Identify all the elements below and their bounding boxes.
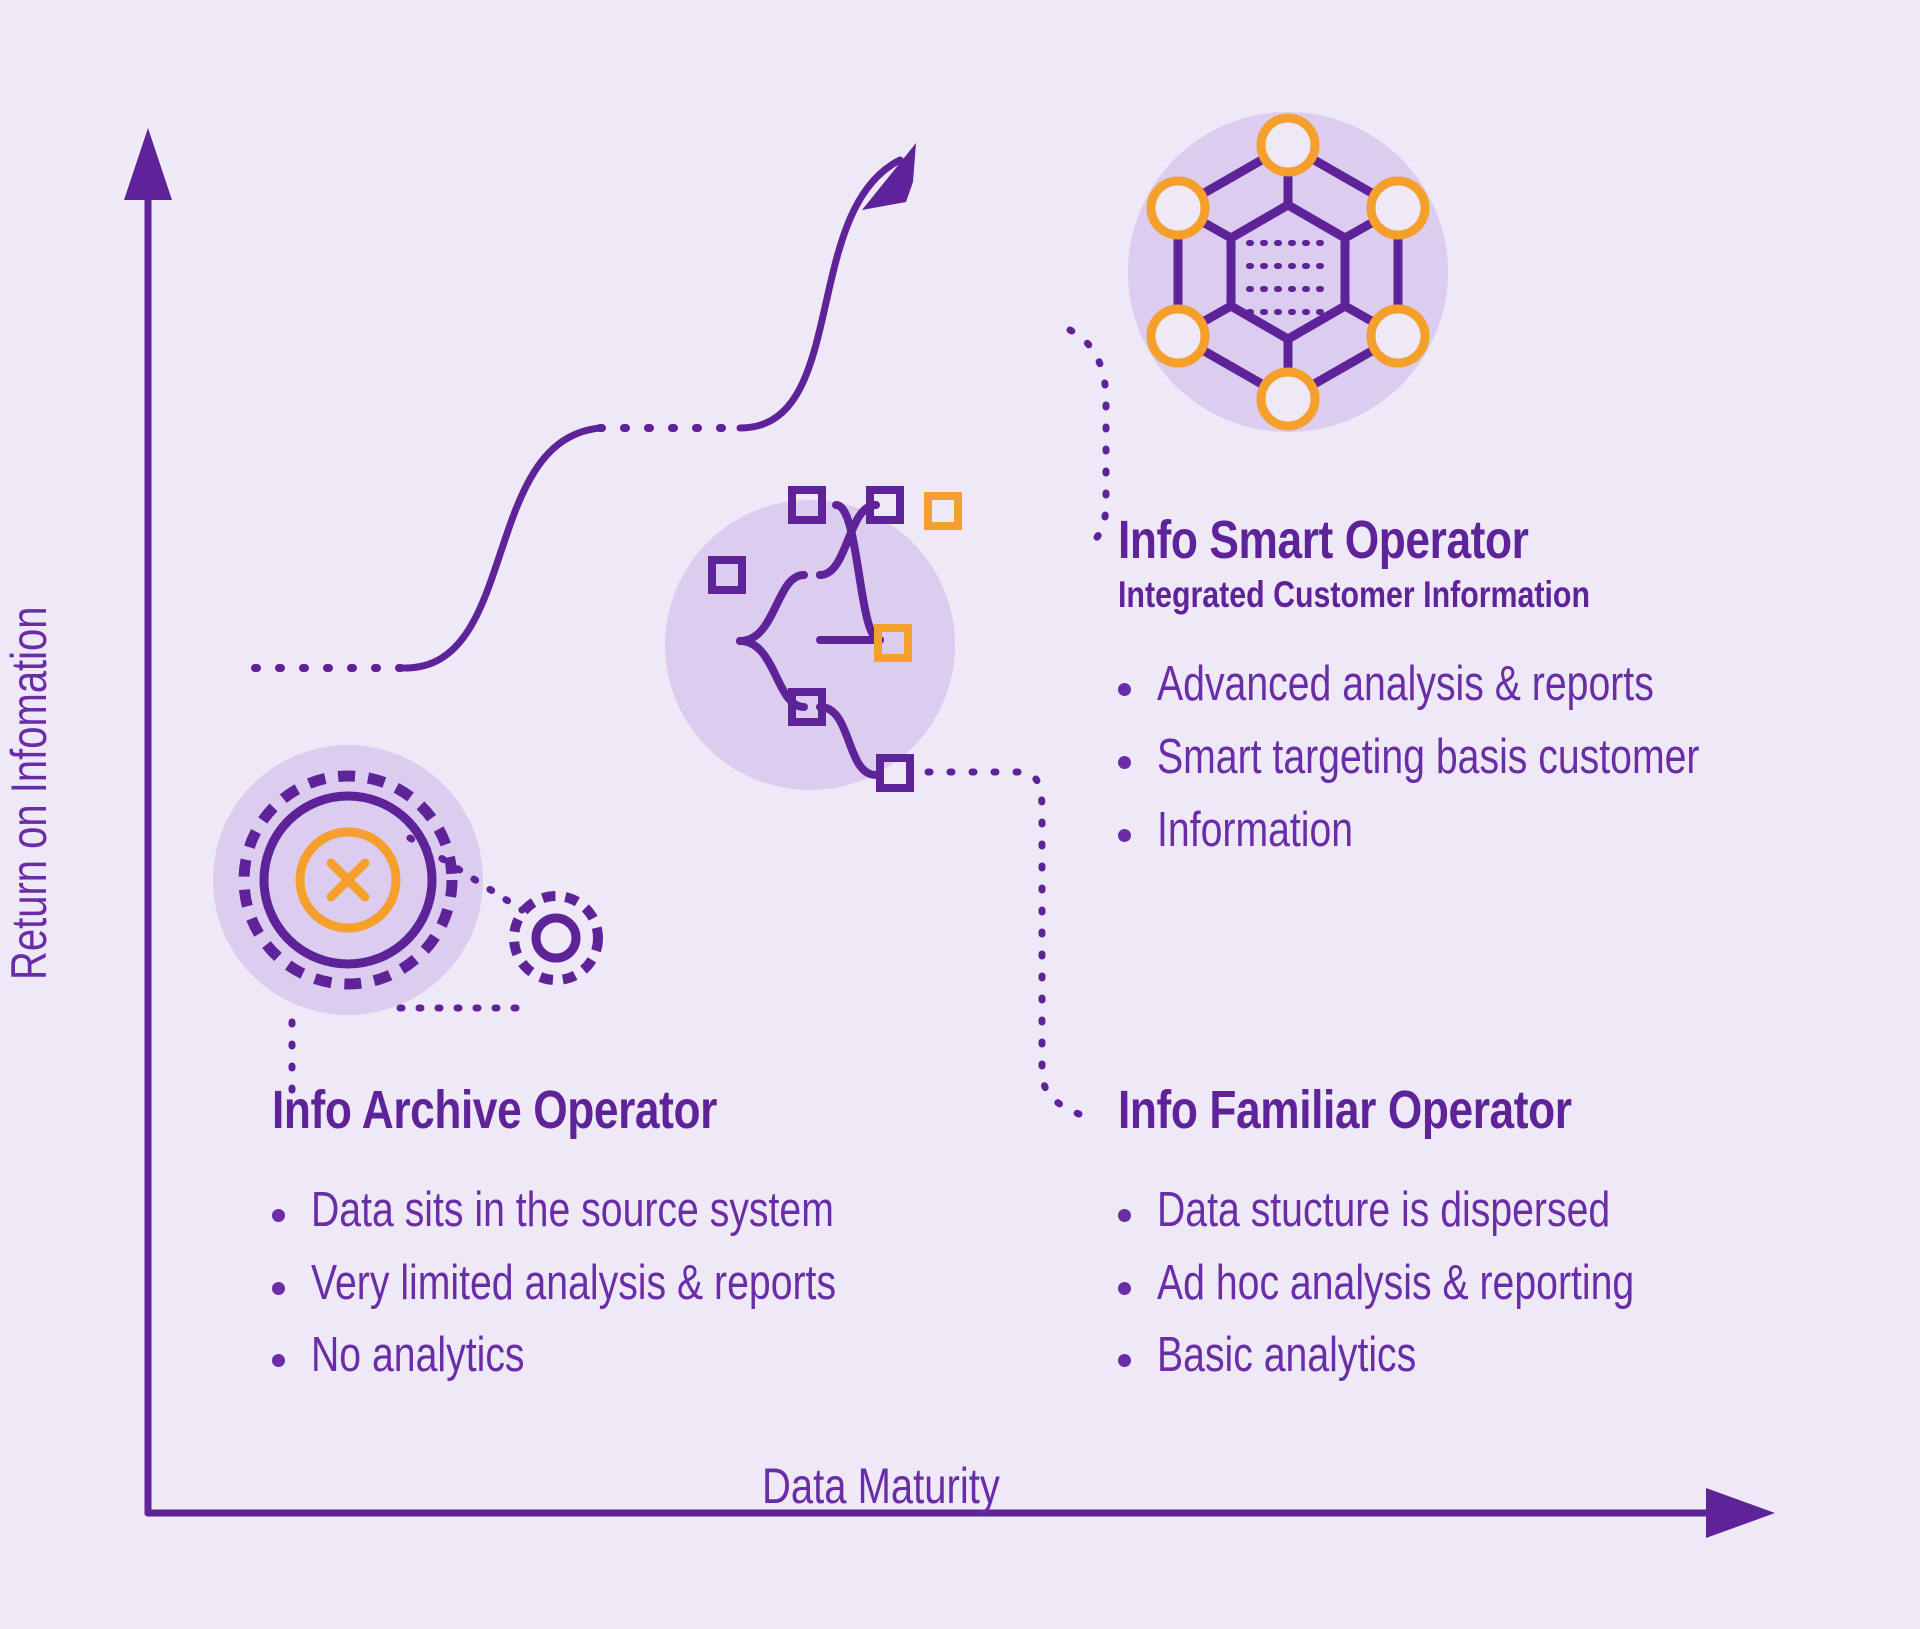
node-circle-top	[1261, 118, 1315, 172]
bullet-text: Advanced analysis & reports	[1157, 657, 1654, 712]
bullet-text: Data sits in the source system	[311, 1183, 834, 1238]
stage-smart-subtitle: Integrated Customer Information	[1118, 575, 1741, 616]
bullet-text: No analytics	[311, 1328, 525, 1383]
bullet-dot-icon	[1118, 683, 1131, 696]
node-circle-upper-left	[1151, 181, 1205, 235]
arrow-up-icon	[124, 128, 172, 200]
leader-familiar	[928, 772, 1088, 1118]
bullet-dot-icon	[1118, 1354, 1131, 1367]
stage-smart-icon-group	[1070, 112, 1448, 548]
stage-familiar-icon-group	[665, 490, 1088, 1118]
bullet-dot-icon	[1118, 829, 1131, 842]
node-circle-bottom	[1261, 372, 1315, 426]
node-square-orange-1	[928, 496, 958, 526]
list-item: Data stucture is dispersed	[1118, 1183, 1878, 1238]
leader-smart	[1070, 330, 1106, 548]
stage-familiar-textblock: Info Familiar Operator Data stucture is …	[1118, 1082, 1878, 1401]
list-item: Very limited analysis & reports	[272, 1256, 1032, 1311]
diagram-canvas: Info Smart Operator Integrated Customer …	[0, 0, 1920, 1629]
stage-smart-bullets: Advanced analysis & reports Smart target…	[1118, 657, 1878, 858]
y-axis-label: Return on Infomation	[0, 606, 58, 980]
bullet-text: Basic analytics	[1157, 1328, 1416, 1383]
x-axis-label: Data Maturity	[762, 1457, 1000, 1515]
list-item: Information	[1118, 803, 1878, 858]
bullet-text: Smart targeting basis customer	[1157, 730, 1699, 785]
bullet-dot-icon	[1118, 756, 1131, 769]
stage-familiar-bullets: Data stucture is dispersed Ad hoc analys…	[1118, 1183, 1878, 1384]
stage-smart-textblock: Info Smart Operator Integrated Customer …	[1118, 512, 1878, 876]
list-item: Data sits in the source system	[272, 1183, 1032, 1238]
node-circle-lower-left	[1151, 309, 1205, 363]
bullet-text: Data stucture is dispersed	[1157, 1183, 1610, 1238]
list-item: Basic analytics	[1118, 1328, 1878, 1383]
small-gear-icon	[514, 896, 598, 980]
stage-archive-title: Info Archive Operator	[272, 1082, 895, 1139]
bullet-text: Information	[1157, 803, 1353, 858]
list-item: No analytics	[272, 1328, 1032, 1383]
stage-familiar-title: Info Familiar Operator	[1118, 1082, 1741, 1139]
list-item: Advanced analysis & reports	[1118, 657, 1878, 712]
list-item: Ad hoc analysis & reporting	[1118, 1256, 1878, 1311]
bullet-dot-icon	[272, 1209, 285, 1222]
bullet-text: Very limited analysis & reports	[311, 1256, 836, 1311]
bullet-dot-icon	[272, 1282, 285, 1295]
bullet-dot-icon	[1118, 1209, 1131, 1222]
bullet-text: Ad hoc analysis & reporting	[1157, 1256, 1634, 1311]
stage-smart-title: Info Smart Operator	[1118, 512, 1741, 569]
bullet-dot-icon	[1118, 1282, 1131, 1295]
arrow-right-icon	[1706, 1488, 1775, 1538]
list-item: Smart targeting basis customer	[1118, 730, 1878, 785]
stage-archive-bullets: Data sits in the source system Very limi…	[272, 1183, 1032, 1384]
stage-archive-icon-group	[213, 745, 598, 1110]
stage-archive-textblock: Info Archive Operator Data sits in the s…	[272, 1082, 1032, 1401]
node-circle-upper-right	[1371, 181, 1425, 235]
bullet-dot-icon	[272, 1354, 285, 1367]
node-circle-lower-right	[1371, 309, 1425, 363]
curve-arrowhead-icon	[862, 143, 916, 210]
